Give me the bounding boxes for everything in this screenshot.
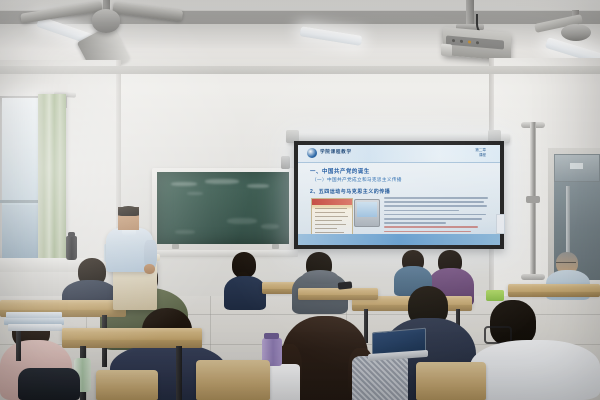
slide-subtitle-1: （一）中国共产党成立和马克思主义传播: [312, 177, 402, 183]
smartphone-icon: [338, 281, 353, 289]
slide-monitor-graphic: [354, 199, 380, 227]
wall-speaker-icon: [281, 156, 290, 169]
pipe-clamp: [526, 196, 540, 203]
student-body: [470, 340, 600, 400]
slide-footer-band: [298, 234, 500, 245]
backpack-icon: [18, 368, 80, 400]
board-clip: [172, 244, 179, 249]
instructor-hand: [144, 264, 155, 274]
ceiling-fan-icon: [561, 24, 591, 41]
thermos-cap: [264, 333, 279, 339]
window-curtain: [38, 94, 66, 266]
chair-back: [96, 370, 158, 400]
hood-icon: [302, 270, 338, 284]
thermos-cap: [68, 232, 75, 237]
projection-screen: 学院课程教学 第二章 课程 一、中国共产党的诞生 （一）中国共产党成立和马克思主…: [298, 145, 500, 245]
desk-edge: [298, 295, 378, 300]
slide-logo-text: 学院课程教学: [320, 149, 352, 155]
green-box-item: [486, 290, 504, 301]
wall-notice: [496, 214, 505, 234]
slide-monitor-screen: [357, 202, 377, 217]
slide-header: 学院课程教学 第二章 课程: [298, 145, 500, 163]
desk-leg: [364, 309, 368, 343]
ceiling-fan-icon: [92, 9, 120, 33]
stacked-books: [8, 324, 62, 331]
instructor-hair: [118, 206, 139, 216]
board-clip: [272, 244, 279, 249]
slide-image-banner: [312, 199, 352, 205]
slide-header-note: 第二章 课程: [475, 148, 486, 159]
pipe-bracket: [521, 274, 545, 280]
transom-label: [570, 163, 583, 169]
eyeglasses-icon: [556, 262, 576, 267]
chair-back: [196, 360, 270, 400]
desk-edge: [508, 292, 600, 297]
student-vest: [352, 356, 408, 400]
thermos-icon: [66, 236, 77, 260]
window-outside-view: [2, 205, 42, 258]
projector-lens-icon: [441, 44, 452, 57]
chalk-tray: [150, 250, 298, 257]
institution-logo-icon: [307, 148, 317, 158]
slide-title: 一、中国共产党的诞生: [310, 167, 370, 175]
chair-back: [416, 362, 486, 400]
student-body: [224, 276, 266, 310]
slide-body-text: [384, 197, 488, 239]
ceiling-wall-joint: [0, 66, 600, 74]
chalkboard: [157, 172, 289, 244]
slide-subtitle-2: 2、五四运动与马克思主义的传播: [310, 188, 390, 195]
classroom-photograph: 学院课程教学 第二章 课程 一、中国共产党的诞生 （一）中国共产党成立和马克思主…: [0, 0, 600, 400]
desk-leg: [176, 346, 182, 400]
projector-mount-pole: [466, 0, 474, 26]
